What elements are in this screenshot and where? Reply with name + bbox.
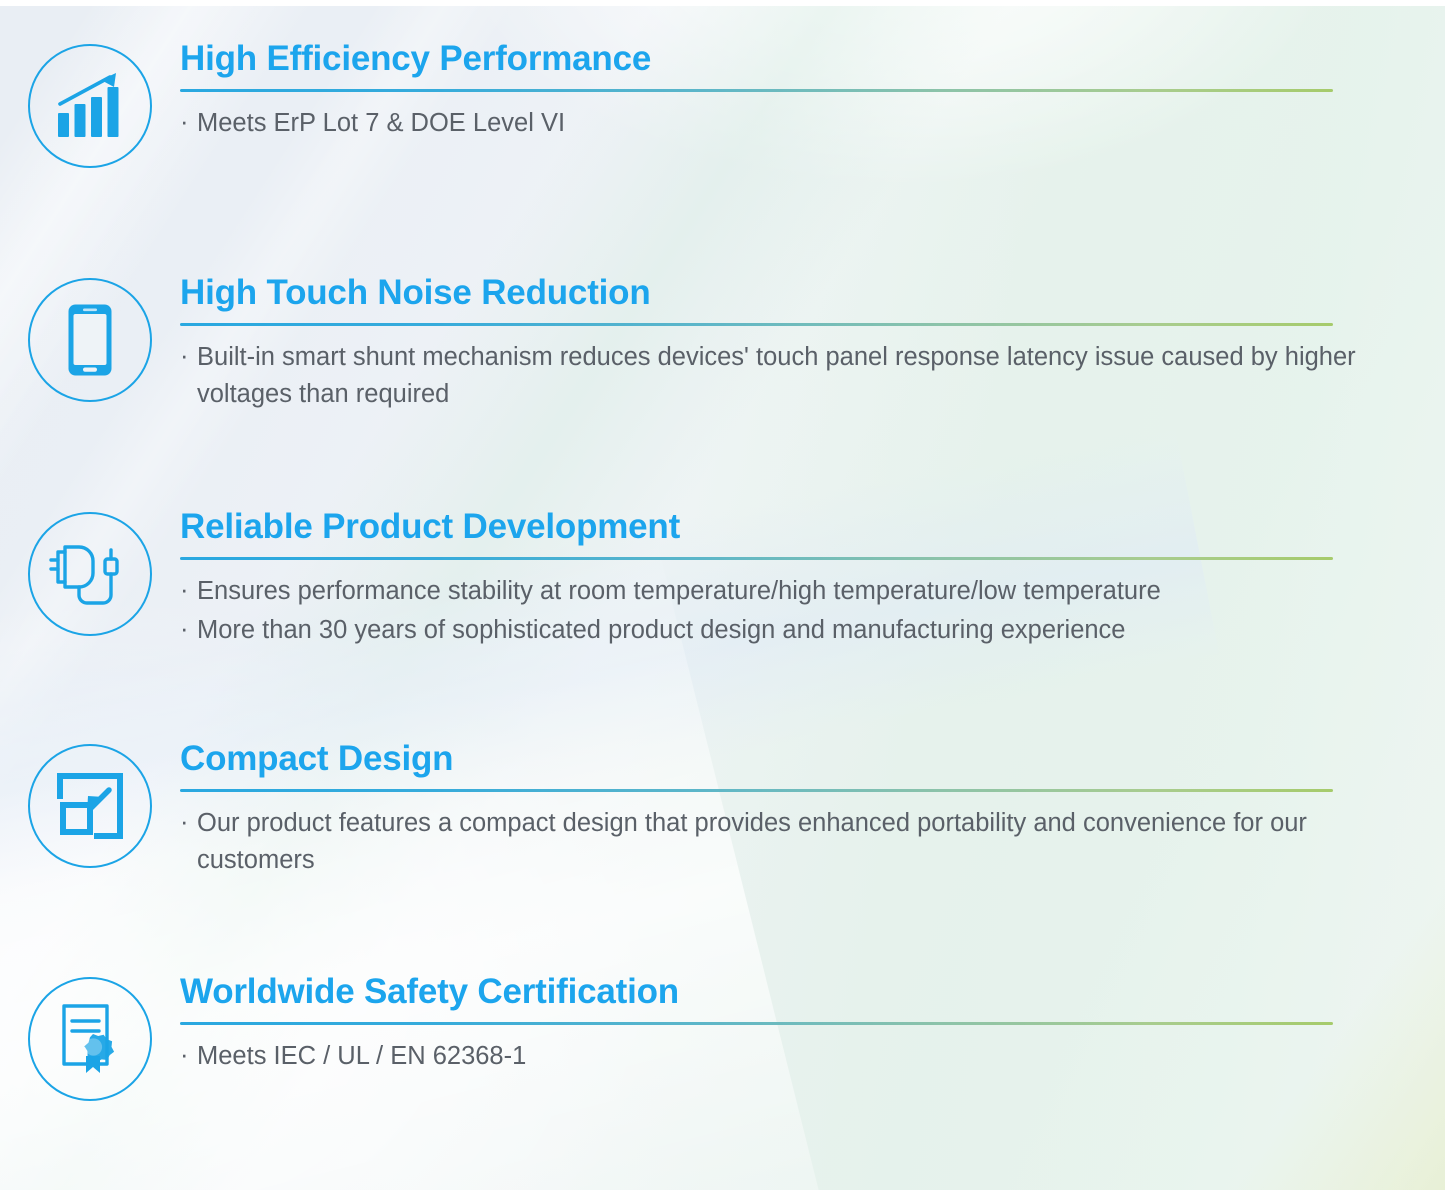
feature-icon-wrap	[0, 274, 180, 402]
feature-item-reliable-product-development: Reliable Product Development Ensures per…	[0, 508, 1445, 651]
feature-text-block: Reliable Product Development Ensures per…	[180, 508, 1445, 651]
feature-title: High Efficiency Performance	[180, 40, 1365, 78]
feature-icon-wrap	[0, 740, 180, 868]
power-adapter-icon	[28, 512, 152, 636]
feature-bullet-list: Ensures performance stability at room te…	[180, 573, 1365, 649]
feature-text-block: Compact Design Our product features a co…	[180, 740, 1445, 881]
feature-text-block: High Efficiency Performance Meets ErP Lo…	[180, 40, 1445, 144]
feature-bullet: Ensures performance stability at room te…	[180, 573, 1365, 610]
feature-icon-wrap	[0, 508, 180, 636]
bar-chart-growth-icon	[28, 44, 152, 168]
feature-divider	[180, 789, 1333, 792]
feature-text-block: High Touch Noise Reduction Built-in smar…	[180, 274, 1445, 415]
feature-item-compact-design: Compact Design Our product features a co…	[0, 740, 1445, 881]
feature-title: Compact Design	[180, 740, 1365, 778]
feature-divider	[180, 557, 1333, 560]
feature-item-high-efficiency-performance: High Efficiency Performance Meets ErP Lo…	[0, 40, 1445, 168]
feature-item-worldwide-safety-certification: Worldwide Safety Certification Meets IEC…	[0, 973, 1445, 1101]
feature-bullet: More than 30 years of sophisticated prod…	[180, 612, 1365, 649]
feature-title: Reliable Product Development	[180, 508, 1365, 546]
feature-bullet: Meets IEC / UL / EN 62368-1	[180, 1038, 1365, 1075]
feature-text-block: Worldwide Safety Certification Meets IEC…	[180, 973, 1445, 1077]
feature-bullet: Our product features a compact design th…	[180, 805, 1365, 879]
smartphone-icon	[28, 278, 152, 402]
feature-bullet-list: Meets ErP Lot 7 & DOE Level VI	[180, 105, 1365, 142]
top-white-band	[0, 0, 1445, 6]
compact-resize-icon	[28, 744, 152, 868]
feature-icon-wrap	[0, 973, 180, 1101]
feature-bullet-list: Meets IEC / UL / EN 62368-1	[180, 1038, 1365, 1075]
feature-title: Worldwide Safety Certification	[180, 973, 1365, 1011]
feature-highlights-page: High Efficiency Performance Meets ErP Lo…	[0, 0, 1445, 1190]
certificate-seal-icon	[28, 977, 152, 1101]
feature-title: High Touch Noise Reduction	[180, 274, 1365, 312]
feature-bullet: Meets ErP Lot 7 & DOE Level VI	[180, 105, 1365, 142]
feature-divider	[180, 1022, 1333, 1025]
feature-bullet-list: Built-in smart shunt mechanism reduces d…	[180, 339, 1365, 413]
feature-divider	[180, 323, 1333, 326]
feature-icon-wrap	[0, 40, 180, 168]
feature-bullet: Built-in smart shunt mechanism reduces d…	[180, 339, 1365, 413]
feature-divider	[180, 89, 1333, 92]
feature-bullet-list: Our product features a compact design th…	[180, 805, 1365, 879]
feature-item-high-touch-noise-reduction: High Touch Noise Reduction Built-in smar…	[0, 274, 1445, 415]
